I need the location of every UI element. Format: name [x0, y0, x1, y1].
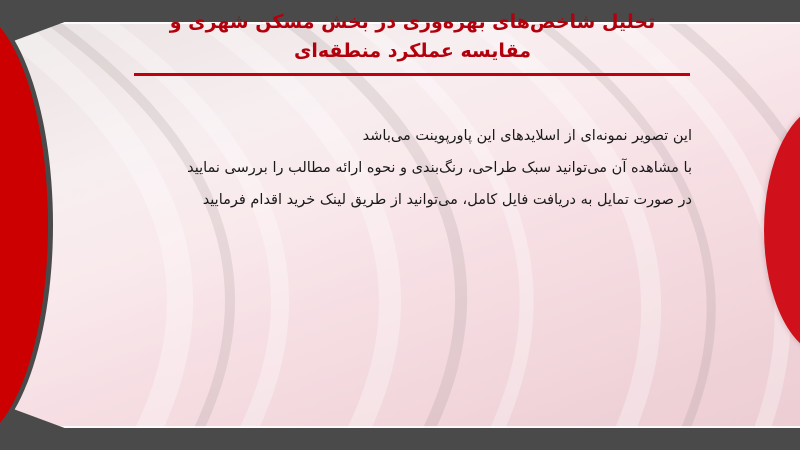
background-curved-bands — [0, 21, 800, 429]
slide-bottom-frame-bar — [0, 428, 800, 450]
slide-title-line-2: مقایسه عملکرد منطقه‌ای — [130, 37, 695, 66]
body-line-2: با مشاهده آن می‌توانید سبک طراحی، رنگ‌بن… — [92, 152, 692, 184]
slide-title: تحلیل شاخص‌های بهره‌وری در بخش مسکن شهری… — [130, 8, 695, 66]
presentation-slide: تحلیل شاخص‌های بهره‌وری در بخش مسکن شهری… — [0, 0, 800, 450]
slide-background-panel — [0, 21, 800, 429]
body-line-1: این تصویر نمونه‌ای از اسلایدهای این پاور… — [92, 120, 692, 152]
slide-body-text: این تصویر نمونه‌ای از اسلایدهای این پاور… — [92, 120, 692, 216]
slide-title-line-1: تحلیل شاخص‌های بهره‌وری در بخش مسکن شهری… — [130, 8, 695, 37]
title-underline — [134, 73, 690, 76]
body-line-3: در صورت تمایل به دریافت فایل کامل، می‌تو… — [92, 184, 692, 216]
